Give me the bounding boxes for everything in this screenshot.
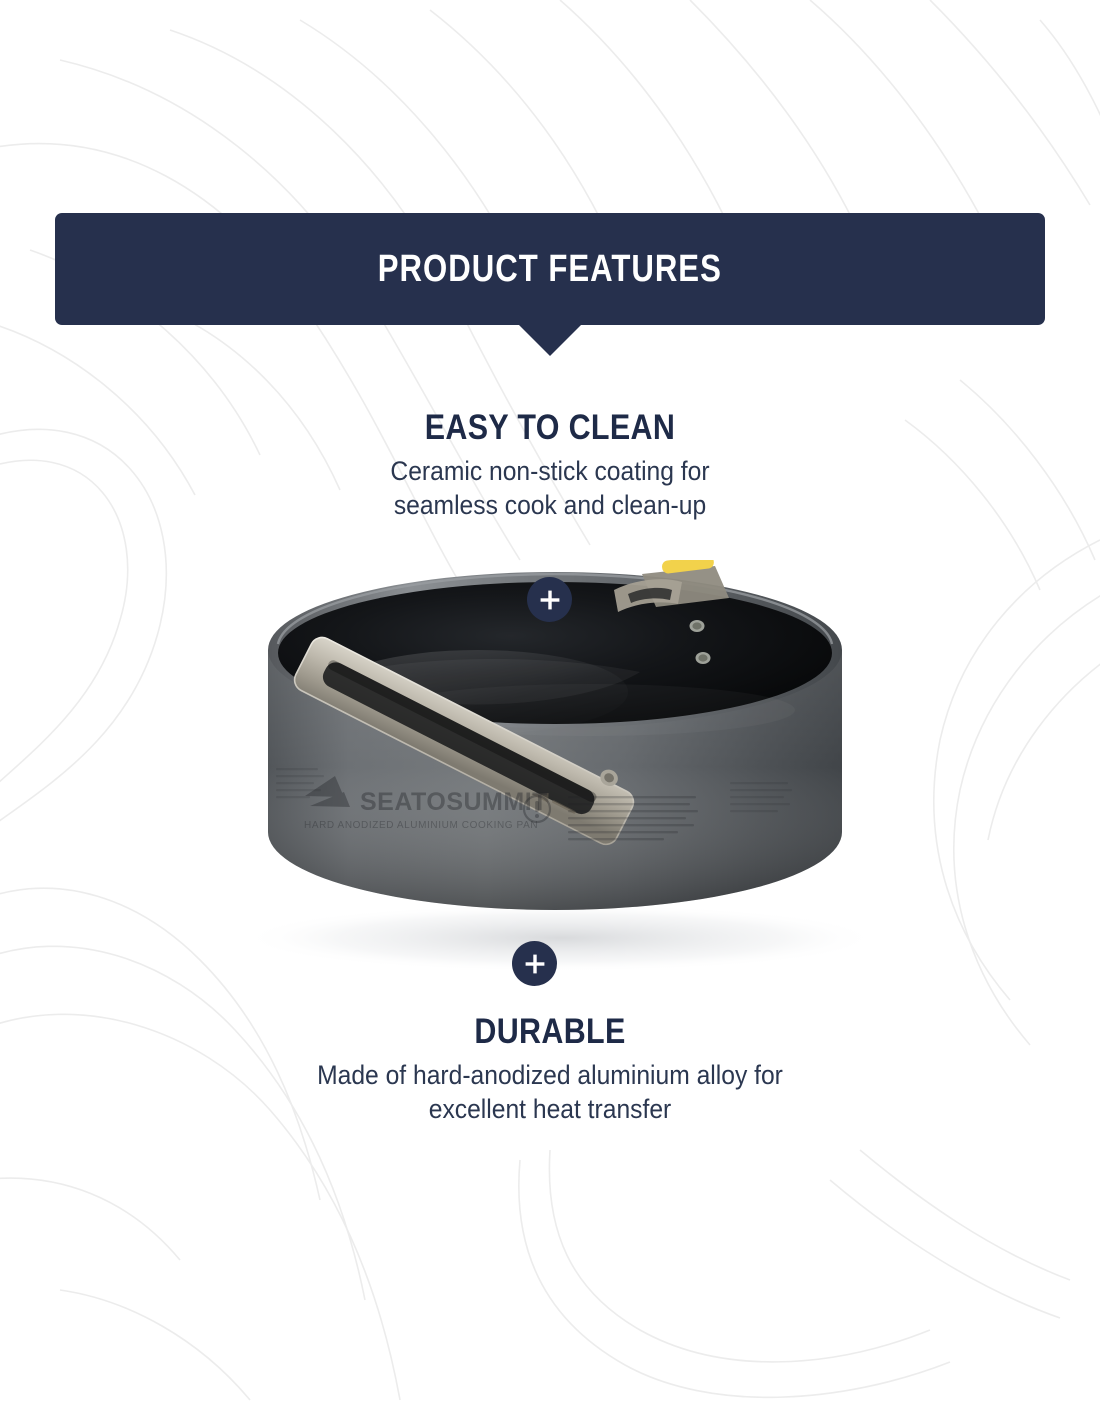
product-features-banner: PRODUCT FEATURES — [55, 213, 1045, 325]
feature-title-durable: DURABLE — [72, 1012, 1029, 1052]
feature-marker-easy-to-clean[interactable] — [527, 577, 572, 622]
feature-description-line: Made of hard-anodized aluminium alloy fo… — [39, 1059, 1062, 1093]
banner-body: PRODUCT FEATURES — [55, 213, 1045, 325]
banner-pointer-triangle — [519, 325, 581, 356]
pan-shadow — [240, 904, 880, 972]
feature-description-durable: Made of hard-anodized aluminium alloy fo… — [39, 1059, 1062, 1127]
pan-model-caption: HARD ANODIZED ALUMINIUM COOKING PAN — [304, 820, 538, 831]
page-title: PRODUCT FEATURES — [378, 248, 722, 291]
feature-description-easy-to-clean: Ceramic non-stick coating for seamless c… — [39, 455, 1062, 523]
feature-block-durable: DURABLE Made of hard-anodized aluminium … — [0, 1012, 1100, 1127]
plus-icon — [524, 953, 546, 975]
feature-description-line: excellent heat transfer — [39, 1093, 1062, 1127]
feature-block-easy-to-clean: EASY TO CLEAN Ceramic non-stick coating … — [0, 408, 1100, 523]
feature-title-easy-to-clean: EASY TO CLEAN — [72, 408, 1029, 448]
product-image-cooking-pan: SEATOSUMMIT HARD ANODIZED ALUMINIUM COOK… — [210, 560, 900, 980]
feature-description-line: Ceramic non-stick coating for — [39, 455, 1062, 489]
feature-description-line: seamless cook and clean-up — [39, 489, 1062, 523]
brand-wordmark: SEATOSUMMIT — [360, 788, 548, 816]
feature-marker-durable[interactable] — [512, 941, 557, 986]
plus-icon — [539, 589, 561, 611]
